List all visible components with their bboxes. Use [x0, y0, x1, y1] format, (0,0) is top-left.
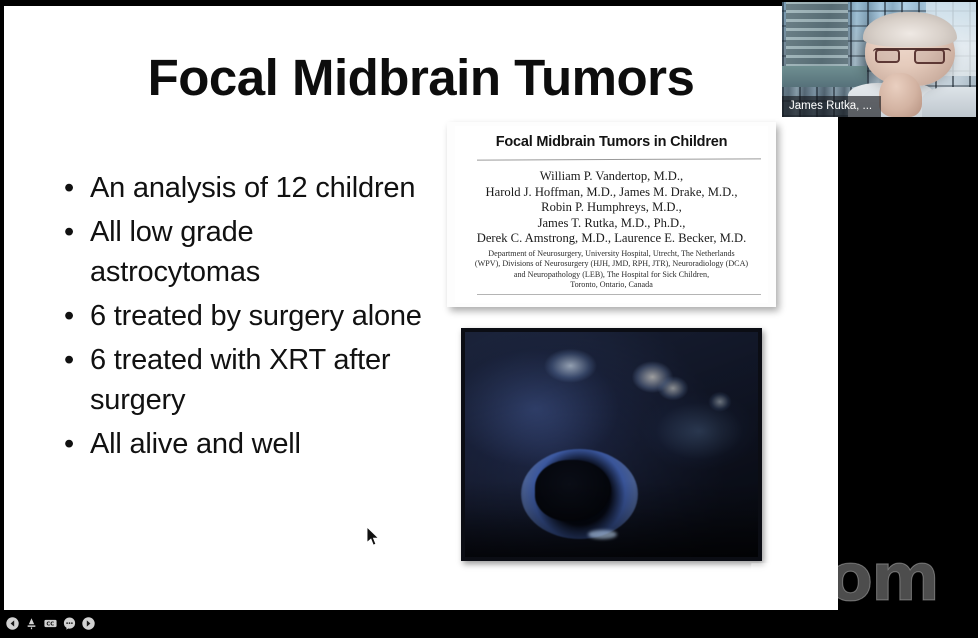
person-hand	[879, 73, 922, 117]
paper-affiliation-line: Department of Neurosurgery, University H…	[455, 249, 768, 259]
list-item: • All low grade astrocytomas	[58, 212, 423, 292]
slide-bullet-list: • An analysis of 12 children • All low g…	[58, 168, 423, 468]
bullet-text: All alive and well	[90, 424, 423, 464]
paper-author-line: James T. Rutka, M.D., Ph.D.,	[455, 216, 768, 232]
paper-affiliation-line: (WPV), Divisions of Neurosurgery (HJH, J…	[455, 259, 768, 269]
zoom-screen-share-view: Focal Midbrain Tumors • An analysis of 1…	[0, 0, 978, 638]
list-item: • An analysis of 12 children	[58, 168, 423, 208]
participant-name-label: James Rutka, ...	[782, 96, 881, 117]
bullet-marker-icon: •	[58, 212, 90, 252]
surgical-endoscopic-image	[461, 328, 762, 561]
paper-title: Focal Midbrain Tumors in Children	[455, 134, 768, 150]
paper-affiliation-line: Toronto, Ontario, Canada	[455, 280, 768, 290]
mouse-cursor	[367, 527, 381, 547]
paper-affiliation-line: and Neuropathology (LEB), The Hospital f…	[455, 270, 768, 280]
paper-author-list: William P. Vandertop, M.D., Harold J. Ho…	[455, 169, 768, 247]
eyeglass-lens-left	[875, 49, 900, 63]
bullet-text: All low grade astrocytomas	[90, 212, 423, 292]
paper-page: Focal Midbrain Tumors in Children Willia…	[455, 126, 768, 303]
svg-text:CC: CC	[46, 622, 54, 628]
paper-author-line: Robin P. Humphreys, M.D.,	[455, 200, 768, 216]
scene-vignette	[465, 481, 758, 558]
bullet-text: 6 treated with XRT after surgery	[90, 340, 423, 420]
paper-footer-rule	[477, 294, 761, 295]
bullet-marker-icon: •	[58, 424, 90, 464]
paper-author-line: William P. Vandertop, M.D.,	[455, 169, 768, 185]
bullet-marker-icon: •	[58, 340, 90, 380]
list-item: • 6 treated with XRT after surgery	[58, 340, 423, 420]
person-shoulder	[922, 87, 976, 117]
bullet-marker-icon: •	[58, 168, 90, 208]
eyeglass-lens-right	[914, 49, 945, 64]
closed-captions-icon[interactable]: CC	[44, 617, 57, 630]
list-item: • 6 treated by surgery alone	[58, 296, 423, 336]
bottom-control-strip: CC	[0, 612, 978, 638]
slide-title: Focal Midbrain Tumors	[4, 48, 838, 107]
chat-icon[interactable]	[63, 617, 76, 630]
participant-video-tile[interactable]: James Rutka, ...	[782, 2, 976, 117]
slide-control-icons: CC	[6, 617, 95, 630]
paper-author-line: Derek C. Amstrong, M.D., Laurence E. Bec…	[455, 231, 768, 247]
previous-slide-icon[interactable]	[6, 617, 19, 630]
next-slide-icon[interactable]	[82, 617, 95, 630]
building-rooftop	[782, 66, 867, 87]
paper-scan-figure: Focal Midbrain Tumors in Children Willia…	[447, 122, 776, 307]
paper-author-line: Harold J. Hoffman, M.D., James M. Drake,…	[455, 185, 768, 201]
bullet-text: 6 treated by surgery alone	[90, 296, 423, 336]
bullet-text: An analysis of 12 children	[90, 168, 423, 208]
list-item: • All alive and well	[58, 424, 423, 464]
annotate-icon[interactable]	[25, 617, 38, 630]
bullet-marker-icon: •	[58, 296, 90, 336]
shared-slide-content[interactable]: Focal Midbrain Tumors • An analysis of 1…	[4, 6, 838, 610]
paper-affiliation-block: Department of Neurosurgery, University H…	[455, 249, 768, 290]
paper-horizontal-rule	[477, 158, 761, 160]
